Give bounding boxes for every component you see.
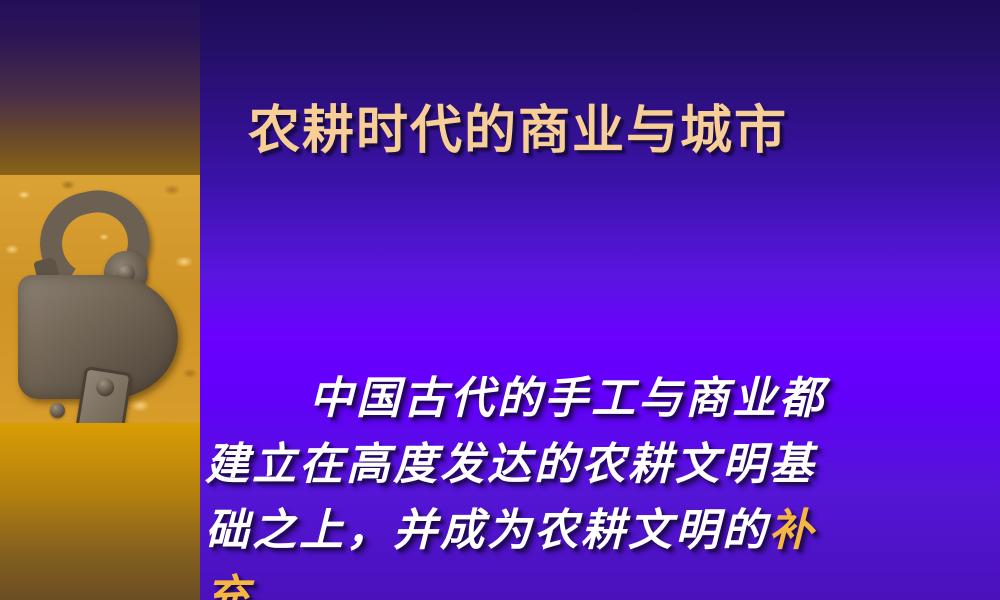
- body-line-3: 础之上，并成为农耕文明的补: [205, 498, 945, 564]
- slide-title: 农耕时代的商业与城市: [248, 102, 948, 160]
- padlock-body-icon: [18, 275, 178, 399]
- body-line-2: 建立在高度发达的农耕文明基: [205, 432, 945, 498]
- body-line-1-text: 中国古代的手工与商业都: [309, 373, 826, 424]
- padlock-plate-screw-icon: [95, 377, 116, 398]
- presentation-slide: 农耕时代的商业与城市 中国古代的手工与商业都 建立在高度发达的农耕文明基 础之上…: [0, 0, 1000, 600]
- left-gradient-band: [0, 0, 200, 600]
- padlock-rivet-left-icon: [50, 403, 65, 418]
- slide-body-text: 中国古代的手工与商业都 建立在高度发达的农耕文明基 础之上，并成为农耕文明的补 …: [205, 366, 945, 600]
- body-line-4-accent: 充: [205, 571, 252, 600]
- body-line-4: 充: [205, 564, 945, 600]
- body-line-2-text: 建立在高度发达的农耕文明基: [205, 439, 816, 490]
- body-line-3-text: 础之上，并成为农耕文明的: [205, 505, 769, 556]
- padlock-plate-icon: [67, 366, 132, 423]
- padlock-photo: [0, 175, 200, 423]
- body-line-1: 中国古代的手工与商业都: [205, 366, 945, 432]
- body-line-3-accent: 补: [769, 505, 816, 556]
